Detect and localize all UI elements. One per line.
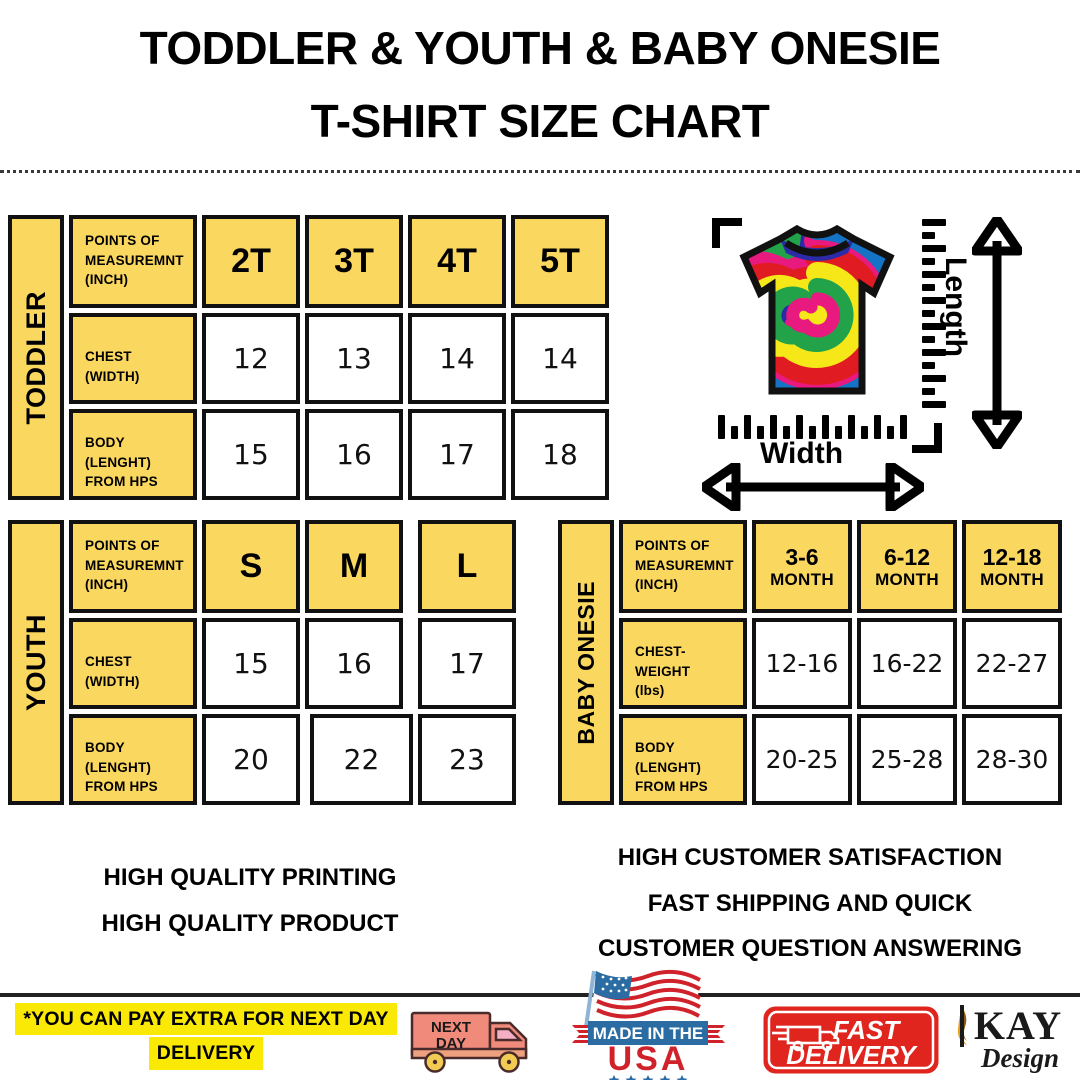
table-cell: 28-30 [962, 714, 1062, 805]
baby-size-unit: MONTH [980, 570, 1044, 590]
youth-size-label: M [340, 547, 368, 586]
toddler-size-label: 3T [334, 242, 374, 281]
promo-left-line2: HIGH QUALITY PRODUCT [20, 901, 480, 947]
brand-logo: KAY Design [952, 999, 1078, 1078]
truck-badge-line1: NEXT [431, 1019, 471, 1036]
cell-value: 12-16 [766, 649, 839, 678]
cell-value: 14 [542, 342, 578, 375]
youth-size-label: S [240, 547, 263, 586]
youth-label-column: POINTS OF MEASUREMNT (INCH) CHEST (WIDTH… [69, 520, 197, 805]
table-cell: 14 [511, 313, 609, 404]
table-cell: 23 [418, 714, 516, 805]
baby-onesie-table: BABY ONESIE POINTS OF MEASUREMNT (INCH) … [558, 520, 1062, 805]
usa-flag-icon: MADE IN THE USA [566, 965, 731, 1080]
toddler-size-label: 2T [231, 242, 271, 281]
cell-value: 28-30 [976, 745, 1049, 774]
youth-size-header: L [418, 520, 516, 613]
delivery-truck-icon: NEXT DAY [408, 1005, 546, 1075]
toddler-size-label: 4T [437, 242, 477, 281]
youth-section-label-text: YOUTH [21, 614, 52, 711]
cell-value: 16-22 [871, 649, 944, 678]
usa-badge-big-text: USA [608, 1040, 689, 1078]
baby-col-6-12: 6-12 MONTH 16-22 25-28 [857, 520, 957, 805]
size-chart-page: TODDLER & YOUTH & BABY ONESIE T-SHIRT SI… [0, 0, 1080, 1080]
measurement-diagram: Length Width [700, 215, 1010, 495]
table-cell: 16 [305, 409, 403, 500]
truck-badge-line2: DAY [436, 1035, 466, 1052]
youth-col-m: M 16 22 [305, 520, 413, 805]
table-cell: 13 [305, 313, 403, 404]
page-title-line1: TODDLER & YOUTH & BABY ONESIE [0, 22, 1080, 75]
youth-section-label: YOUTH [8, 520, 64, 805]
table-cell: 12-16 [752, 618, 852, 709]
cell-value: 20-25 [766, 745, 839, 774]
toddler-col-4t: 4T 14 17 [408, 215, 506, 500]
table-cell: 15 [202, 618, 300, 709]
baby-size-unit: MONTH [770, 570, 834, 590]
youth-size-header: M [305, 520, 403, 613]
toddler-section-label-text: TODDLER [21, 291, 52, 425]
toddler-size-header: 3T [305, 215, 403, 308]
cell-value: 20 [233, 743, 269, 776]
cell-value: 22 [344, 743, 380, 776]
corner-bracket-bottom-right [912, 423, 942, 453]
next-day-notice: *YOU CAN PAY EXTRA FOR NEXT DAY DELIVERY [4, 1003, 408, 1070]
table-cell: 20 [202, 714, 300, 805]
kay-design-logo-icon: KAY Design [952, 999, 1078, 1073]
cell-value: 18 [542, 438, 578, 471]
toddler-size-header: 2T [202, 215, 300, 308]
youth-col-l: L 17 23 [418, 520, 516, 805]
next-day-truck-badge: NEXT DAY [408, 1005, 546, 1080]
cell-value: 17 [439, 438, 475, 471]
cell-value: 15 [233, 438, 269, 471]
table-cell: 18 [511, 409, 609, 500]
cell-value: 16 [336, 647, 372, 680]
width-arrow [702, 463, 924, 511]
toddler-label-column: POINTS OF MEASUREMNT (INCH) CHEST (WIDTH… [69, 215, 197, 500]
made-in-usa-badge: MADE IN THE USA [566, 965, 731, 1080]
cell-value: 13 [336, 342, 372, 375]
toddler-pom-text: POINTS OF MEASUREMNT (INCH) [85, 231, 184, 290]
cell-value: 23 [449, 743, 485, 776]
toddler-size-header: 4T [408, 215, 506, 308]
table-cell: 17 [408, 409, 506, 500]
youth-row-label-chest: CHEST (WIDTH) [69, 618, 197, 709]
table-cell: 25-28 [857, 714, 957, 805]
table-cell: 15 [202, 409, 300, 500]
youth-pom-header: POINTS OF MEASUREMNT (INCH) [69, 520, 197, 613]
table-cell: 17 [418, 618, 516, 709]
baby-col-3-6: 3-6 MONTH 12-16 20-25 [752, 520, 852, 805]
toddler-pom-header: POINTS OF MEASUREMNT (INCH) [69, 215, 197, 308]
baby-size-label: 3-6 [785, 544, 818, 570]
page-title-line2: T-SHIRT SIZE CHART [0, 95, 1080, 148]
fast-delivery-line2: DELIVERY [786, 1040, 918, 1070]
length-label: Length [938, 257, 972, 357]
promo-right: HIGH CUSTOMER SATISFACTION FAST SHIPPING… [540, 835, 1080, 972]
baby-size-header: 12-18 MONTH [962, 520, 1062, 613]
baby-onesie-section-label: BABY ONESIE [558, 520, 614, 805]
toddler-col-2t: 2T 12 15 [202, 215, 300, 500]
baby-size-header: 6-12 MONTH [857, 520, 957, 613]
baby-onesie-label-column: POINTS OF MEASUREMNT (INCH) CHEST- WEIGH… [619, 520, 747, 805]
cell-value: 17 [449, 647, 485, 680]
table-cell: 14 [408, 313, 506, 404]
promo-left-line1: HIGH QUALITY PRINTING [20, 855, 480, 901]
baby-row-label-body: BODY (LENGHT) FROM HPS [619, 714, 747, 805]
fast-delivery-badge: FAST DELIVERY [762, 1005, 940, 1080]
width-ruler [718, 413, 907, 439]
tie-dye-tshirt-icon [722, 223, 912, 403]
baby-size-header: 3-6 MONTH [752, 520, 852, 613]
youth-col-s: S 15 20 [202, 520, 300, 805]
youth-size-header: S [202, 520, 300, 613]
next-day-notice-line1: *YOU CAN PAY EXTRA FOR NEXT DAY [15, 1003, 396, 1035]
toddler-table: TODDLER POINTS OF MEASUREMNT (INCH) CHES… [8, 215, 609, 500]
next-day-notice-line2: DELIVERY [149, 1037, 263, 1069]
cell-value: 16 [336, 438, 372, 471]
baby-size-label: 12-18 [983, 544, 1042, 570]
baby-onesie-section-label-text: BABY ONESIE [573, 581, 600, 745]
toddler-size-header: 5T [511, 215, 609, 308]
table-cell: 22-27 [962, 618, 1062, 709]
brand-sub: Design [980, 1043, 1059, 1073]
baby-col-12-18: 12-18 MONTH 22-27 28-30 [962, 520, 1062, 805]
cell-value: 15 [233, 647, 269, 680]
cell-value: 22-27 [976, 649, 1049, 678]
toddler-section-label: TODDLER [8, 215, 64, 500]
header-divider [0, 170, 1080, 173]
table-cell: 12 [202, 313, 300, 404]
toddler-col-5t: 5T 14 18 [511, 215, 609, 500]
table-cell: 20-25 [752, 714, 852, 805]
toddler-col-3t: 3T 13 16 [305, 215, 403, 500]
toddler-row-label-body: BODY (LENGHT) FROM HPS [69, 409, 197, 500]
toddler-row-label-chest: CHEST (WIDTH) [69, 313, 197, 404]
youth-size-label: L [457, 547, 478, 586]
promo-right-line1: HIGH CUSTOMER SATISFACTION [540, 835, 1080, 881]
table-cell: 16-22 [857, 618, 957, 709]
youth-table: YOUTH POINTS OF MEASUREMNT (INCH) CHEST … [8, 520, 516, 805]
page-header: TODDLER & YOUTH & BABY ONESIE T-SHIRT SI… [0, 0, 1080, 173]
table-cell: 22 [310, 714, 413, 805]
promo-right-line2: FAST SHIPPING AND QUICK [540, 881, 1080, 927]
baby-size-unit: MONTH [875, 570, 939, 590]
toddler-size-label: 5T [540, 242, 580, 281]
promo-left: HIGH QUALITY PRINTING HIGH QUALITY PRODU… [20, 855, 480, 946]
cell-value: 12 [233, 342, 269, 375]
cell-value: 25-28 [871, 745, 944, 774]
length-arrow [972, 217, 1022, 449]
baby-size-label: 6-12 [884, 544, 930, 570]
baby-row-label-chest-weight: CHEST- WEIGHT (lbs) [619, 618, 747, 709]
baby-pom-header: POINTS OF MEASUREMNT (INCH) [619, 520, 747, 613]
cell-value: 14 [439, 342, 475, 375]
fast-delivery-badge-icon: FAST DELIVERY [762, 1005, 940, 1075]
youth-row-label-body: BODY (LENGHT) FROM HPS [69, 714, 197, 805]
footer-banner: *YOU CAN PAY EXTRA FOR NEXT DAY DELIVERY… [0, 997, 1080, 1080]
brand-name: KAY [974, 1003, 1062, 1048]
table-cell: 16 [305, 618, 403, 709]
